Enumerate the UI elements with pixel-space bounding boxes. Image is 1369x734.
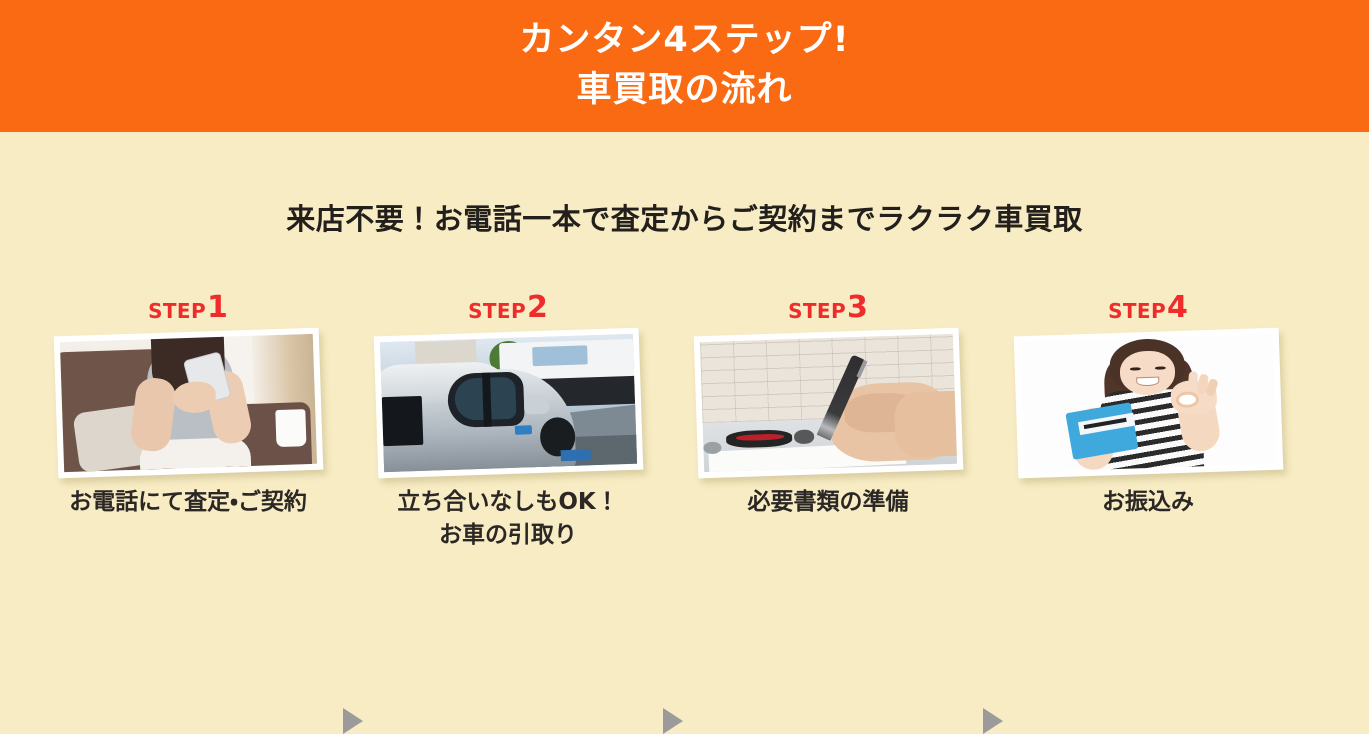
step-number-4: 4: [1167, 294, 1188, 322]
step-photo-3: [700, 334, 957, 472]
step-caption-2-line-1: 立ち合いなしもOK！: [397, 489, 618, 515]
step-flow-page: カンタン4ステップ! 車買取の流れ 来店不要！お電話一本で査定からご契約までラク…: [0, 0, 1369, 567]
step-item-2: STEP2 立ち合いなしもOK！ お車の引取り: [368, 288, 648, 567]
banner-title-line-1: カンタン4ステップ!: [519, 16, 849, 66]
step-number-2: 2: [527, 294, 548, 322]
subheading: 来店不要！お電話一本で査定からご契約までラクラク車買取: [0, 196, 1369, 238]
step-photo-frame-4: [1014, 328, 1284, 479]
step-caption-3: 必要書類の準備: [670, 486, 986, 519]
step-word-1: STEP: [148, 301, 206, 321]
step-caption-4: お振込み: [990, 486, 1306, 519]
arrow-right-icon-1: [343, 708, 363, 734]
step-label-2: STEP2: [368, 288, 648, 322]
step-caption-1: お電話にて査定・ご契約: [30, 486, 346, 519]
step-word-3: STEP: [788, 301, 846, 321]
step-number-1: 1: [207, 294, 228, 322]
step-label-1: STEP1: [48, 288, 328, 322]
page-header-banner: カンタン4ステップ! 車買取の流れ: [0, 0, 1369, 132]
step-item-1: STEP1 お電話にて査定・ご契約: [48, 288, 328, 567]
step-photo-1: [60, 334, 317, 472]
step-caption-2-line-2: お車の引取り: [350, 519, 666, 552]
step-item-3: STEP3 必要書類の準備: [688, 288, 968, 567]
steps-container: STEP1 お電話にて査定・ご契約 STEP2: [0, 288, 1369, 567]
step-photo-frame-2: [374, 328, 644, 479]
step-word-4: STEP: [1108, 301, 1166, 321]
step-item-4: STEP4 お振込み: [1008, 288, 1288, 567]
step-number-3: 3: [847, 294, 868, 322]
step-caption-2: 立ち合いなしもOK！ お車の引取り: [350, 486, 666, 553]
step-photo-frame-1: [54, 328, 324, 479]
step-photo-frame-3: [694, 328, 964, 479]
step-caption-4-line-1: お振込み: [1102, 489, 1194, 515]
banner-title-line-2: 車買取の流れ: [576, 66, 792, 116]
step-label-3: STEP3: [688, 288, 968, 322]
arrow-right-icon-2: [663, 708, 683, 734]
step-label-4: STEP4: [1008, 288, 1288, 322]
step-photo-4: [1020, 334, 1277, 472]
arrow-right-icon-3: [983, 708, 1003, 734]
step-word-2: STEP: [468, 301, 526, 321]
step-caption-3-line-1: 必要書類の準備: [748, 489, 909, 515]
step-photo-2: [380, 334, 637, 472]
step-caption-1-line-1: お電話にて査定・ご契約: [69, 489, 307, 515]
